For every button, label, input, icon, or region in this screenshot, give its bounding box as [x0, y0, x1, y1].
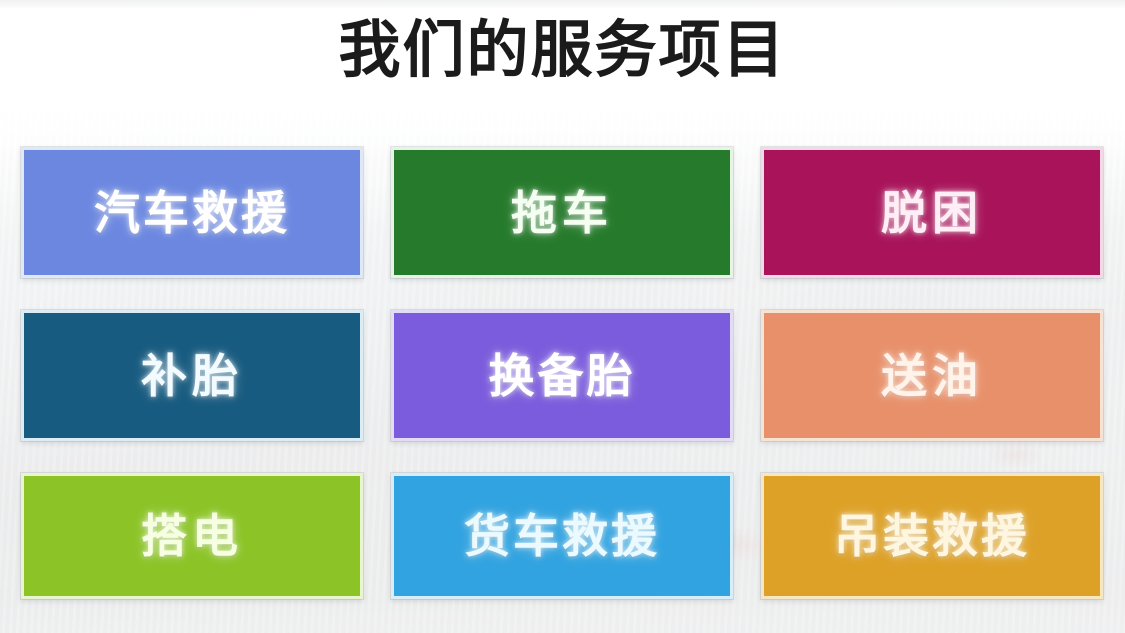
service-tile-label: 吊装救援 — [834, 513, 1030, 559]
service-tile-label: 搭电 — [141, 513, 243, 559]
service-tile-towing[interactable]: 拖车 — [391, 147, 733, 278]
background-top-band — [0, 0, 1125, 8]
service-tile-label: 送油 — [881, 353, 983, 399]
service-tile-extrication[interactable]: 脱困 — [761, 147, 1103, 278]
service-tile-label: 换备胎 — [489, 353, 636, 399]
service-tile-crane-lifting-rescue[interactable]: 吊装救援 — [761, 473, 1103, 599]
service-tile-jump-start[interactable]: 搭电 — [21, 473, 363, 599]
service-tile-label: 脱困 — [881, 190, 983, 236]
service-tile-truck-rescue[interactable]: 货车救援 — [391, 473, 733, 599]
service-tile-label: 拖车 — [511, 190, 613, 236]
service-tile-tire-repair[interactable]: 补胎 — [21, 310, 363, 441]
service-poster: 我们的服务项目 汽车救援 拖车 脱困 补胎 换备胎 送油 搭电 货车救援 吊装救… — [0, 0, 1125, 633]
service-grid: 汽车救援 拖车 脱困 补胎 换备胎 送油 搭电 货车救援 吊装救援 — [21, 147, 1104, 603]
service-tile-fuel-delivery[interactable]: 送油 — [761, 310, 1103, 441]
service-tile-label: 货车救援 — [464, 513, 660, 559]
service-tile-spare-tire-change[interactable]: 换备胎 — [391, 310, 733, 441]
service-tile-car-rescue[interactable]: 汽车救援 — [21, 147, 363, 278]
service-tile-label: 补胎 — [141, 353, 243, 399]
service-tile-label: 汽车救援 — [94, 190, 290, 236]
page-title: 我们的服务项目 — [0, 18, 1125, 83]
